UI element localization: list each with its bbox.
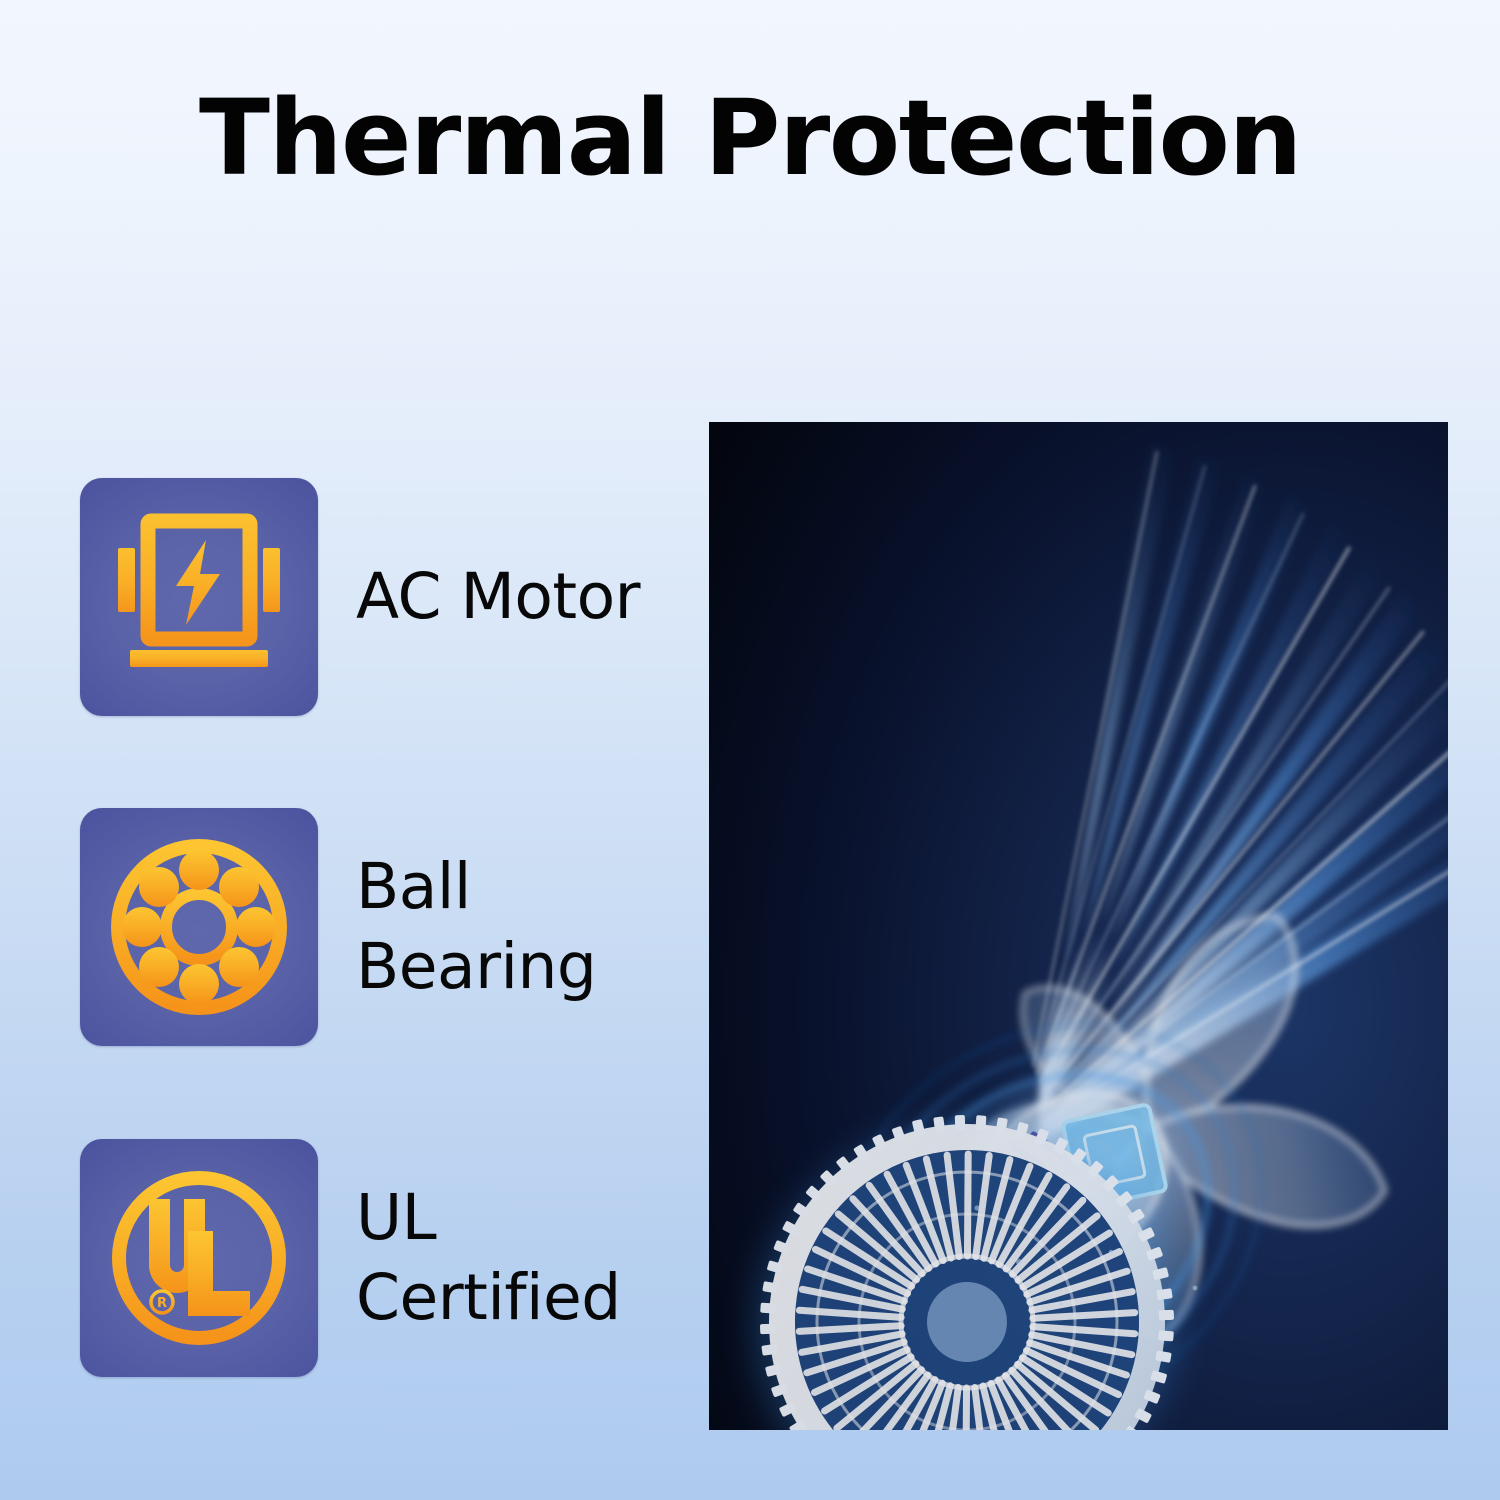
ul-certified-icon: R [80,1139,318,1377]
svg-text:R: R [157,1296,167,1311]
feature-item-ac-motor: AC Motor [80,478,640,716]
page-title: Thermal Protection [0,86,1500,190]
feature-label-ball-bearing: Ball Bearing [356,847,596,1007]
badge-ac-motor [80,478,318,716]
ac-motor-icon [80,478,318,716]
feature-label-ac-motor: AC Motor [356,557,640,637]
feature-label-ul-certified: UL Certified [356,1178,621,1338]
fan-motor-airflow-photo [709,422,1448,1430]
badge-ul-certified: R [80,1139,318,1377]
feature-item-ball-bearing: Ball Bearing [80,808,596,1046]
infographic-page: Thermal Protection [0,0,1500,1500]
feature-item-ul-certified: R UL Certified [80,1139,621,1377]
badge-ball-bearing [80,808,318,1046]
product-image-panel [709,422,1448,1430]
ball-bearing-icon [80,808,318,1046]
